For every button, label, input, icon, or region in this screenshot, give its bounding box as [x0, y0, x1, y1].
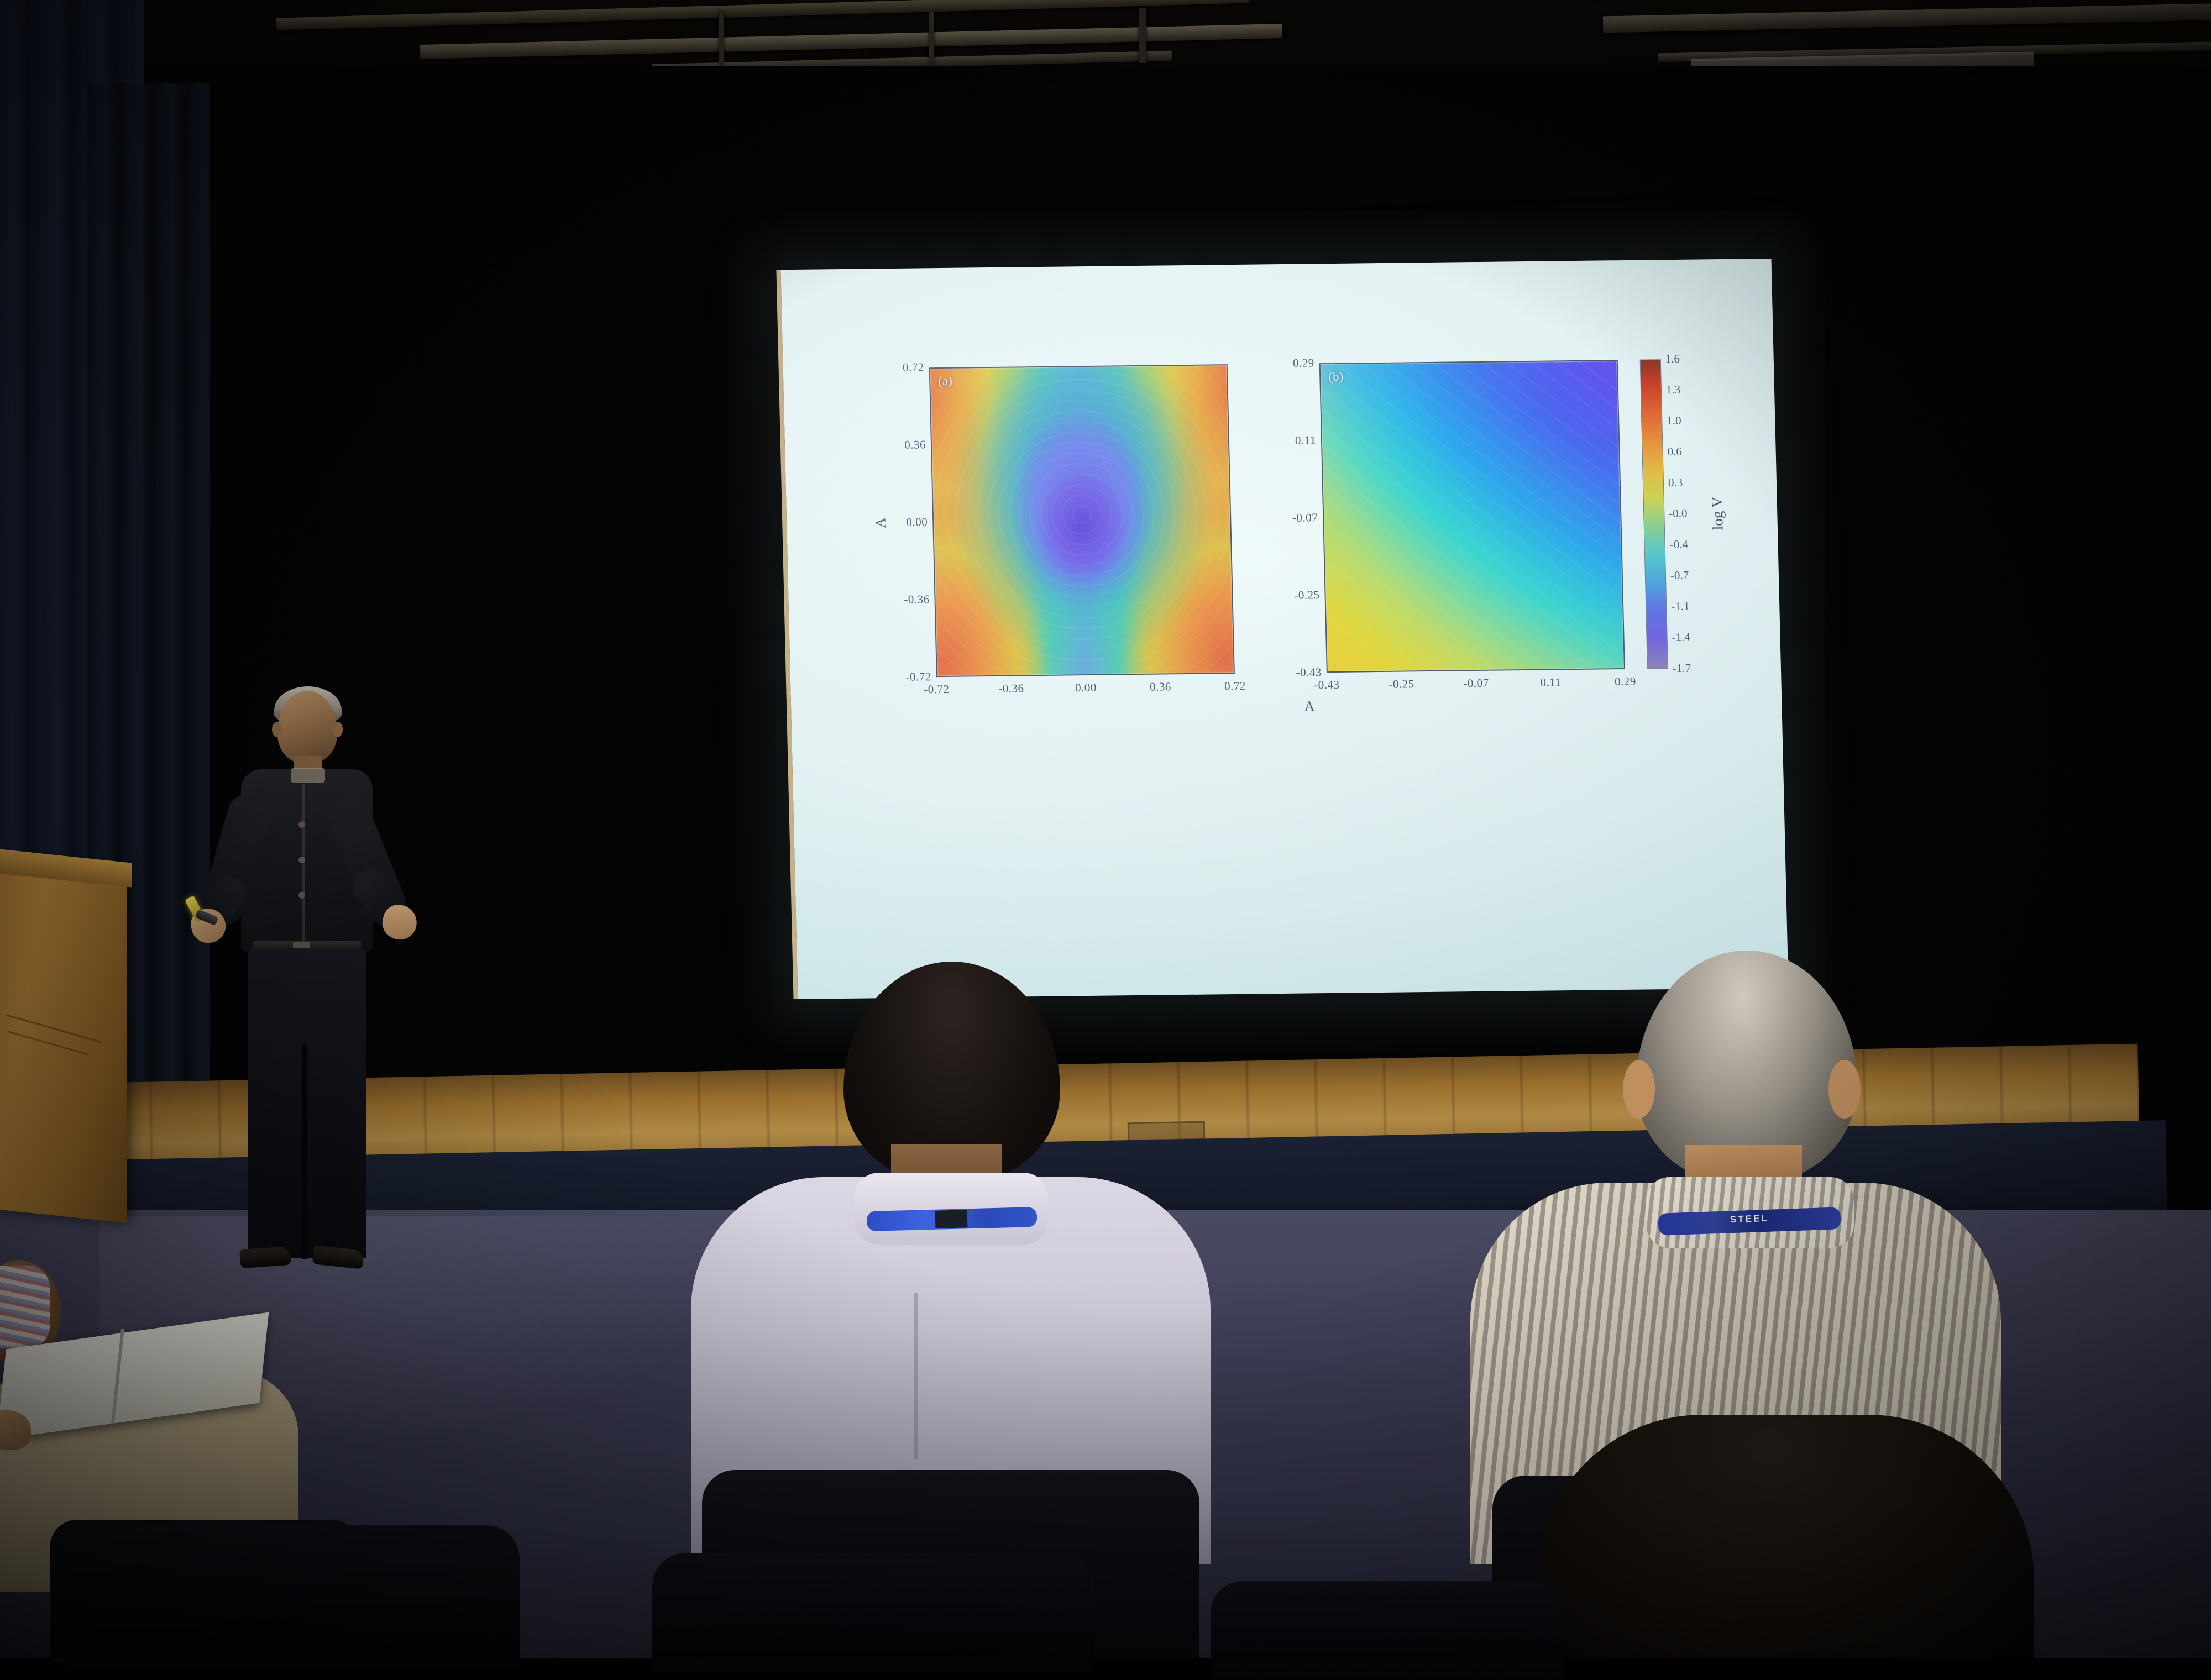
y-tick-b-4: -0.43 — [1296, 665, 1322, 680]
projection-surface: (a) 0.72 0.36 0.00 -0.36 -0.72 -0.72 -0.… — [776, 259, 1788, 999]
cbar-tick-5: -0.0 — [1669, 507, 1688, 521]
lectern — [0, 855, 127, 1223]
panel-label-a: (a) — [938, 374, 952, 389]
x-axis-label: A — [1304, 698, 1314, 715]
attendee-ear — [1623, 1060, 1655, 1119]
speaker-shirt-placket — [302, 784, 305, 944]
speaker-collar — [291, 768, 325, 783]
cbar-tick-1: 1.3 — [1666, 383, 1681, 397]
y-tick-a-1: 0.36 — [904, 438, 926, 452]
truss-support — [929, 12, 934, 62]
y-tick-b-0: 0.29 — [1293, 356, 1314, 370]
speaker-shirt-button — [298, 857, 305, 863]
plot-frame-a: (a) — [929, 364, 1235, 677]
y-tick-b-1: 0.11 — [1295, 433, 1317, 447]
y-tick-a-4: -0.72 — [905, 670, 931, 684]
x-tick-a-4: 0.72 — [1224, 679, 1246, 693]
cbar-tick-10: -1.7 — [1673, 662, 1691, 675]
attendee-shirt-striped — [0, 1266, 50, 1348]
panel-label-b: (b) — [1328, 370, 1343, 384]
y-tick-b-2: -0.07 — [1292, 511, 1318, 525]
cbar-tick-4: 0.3 — [1668, 476, 1683, 490]
cbar-tick-0: 1.6 — [1665, 352, 1680, 366]
lanyard-text: STEEL — [867, 1209, 1037, 1223]
cbar-tick-6: -0.4 — [1669, 538, 1688, 552]
contour-panel-b: (b) 0.29 0.11 -0.07 -0.25 -0.43 -0.43 -0… — [1319, 360, 1625, 673]
speaker-shirt-button — [298, 821, 305, 828]
colorbar-gradient — [1640, 359, 1668, 669]
y-tick-b-3: -0.25 — [1294, 588, 1320, 602]
auditorium-seat — [652, 1553, 1094, 1674]
x-tick-a-3: 0.36 — [1150, 680, 1171, 694]
cbar-tick-2: 1.0 — [1667, 414, 1681, 428]
attendee-ear — [1828, 1060, 1861, 1119]
speaker-shirt-button — [298, 892, 305, 899]
heatmap-b — [1321, 361, 1624, 671]
colorbar-label: log V — [1709, 497, 1726, 531]
speaker-leg-gap — [302, 1044, 307, 1259]
x-tick-a-2: 0.00 — [1075, 681, 1097, 695]
truss-support — [719, 10, 724, 63]
colorbar: 1.6 1.3 1.0 0.6 0.3 -0.0 -0.4 -0.7 -1.1 … — [1640, 359, 1719, 669]
x-tick-a-1: -0.36 — [998, 681, 1024, 696]
x-tick-b-4: 0.29 — [1615, 675, 1636, 689]
x-tick-b-2: -0.07 — [1463, 676, 1489, 691]
cbar-tick-9: -1.4 — [1672, 631, 1690, 644]
contour-panel-a: (a) 0.72 0.36 0.00 -0.36 -0.72 -0.72 -0.… — [929, 364, 1235, 677]
cbar-tick-8: -1.1 — [1671, 600, 1690, 613]
speaker-ear — [333, 722, 343, 737]
x-tick-a-0: -0.72 — [924, 683, 950, 697]
y-tick-a-0: 0.72 — [903, 360, 924, 374]
x-tick-b-3: 0.11 — [1540, 675, 1562, 689]
x-tick-b-0: -0.43 — [1314, 678, 1340, 692]
speaker-ear — [272, 722, 282, 737]
y-tick-a-3: -0.36 — [904, 592, 930, 607]
attendee-shirt-pleat — [914, 1293, 918, 1459]
attendee-head — [1537, 1415, 2034, 1658]
projection-screen: (a) 0.72 0.36 0.00 -0.36 -0.72 -0.72 -0.… — [776, 259, 1788, 999]
cbar-tick-3: 0.6 — [1667, 445, 1682, 459]
speaker — [188, 691, 420, 1293]
y-tick-a-2: 0.00 — [906, 515, 928, 529]
lecture-hall-scene: (a) 0.72 0.36 0.00 -0.36 -0.72 -0.72 -0.… — [0, 0, 2211, 1658]
x-tick-b-1: -0.25 — [1389, 677, 1414, 691]
heatmap-a — [930, 365, 1234, 676]
plot-frame-b: (b) — [1319, 360, 1625, 673]
auditorium-seat — [1211, 1581, 1564, 1680]
lanyard-text: STEEL — [1658, 1210, 1841, 1228]
cbar-tick-7: -0.7 — [1670, 569, 1689, 582]
audience-member-foreground-right — [1537, 1415, 2034, 1658]
y-axis-label-a: A — [873, 518, 889, 528]
truss-support — [1139, 8, 1146, 63]
slide-figure: (a) 0.72 0.36 0.00 -0.36 -0.72 -0.72 -0.… — [848, 359, 1720, 750]
auditorium-seat — [66, 1525, 520, 1669]
